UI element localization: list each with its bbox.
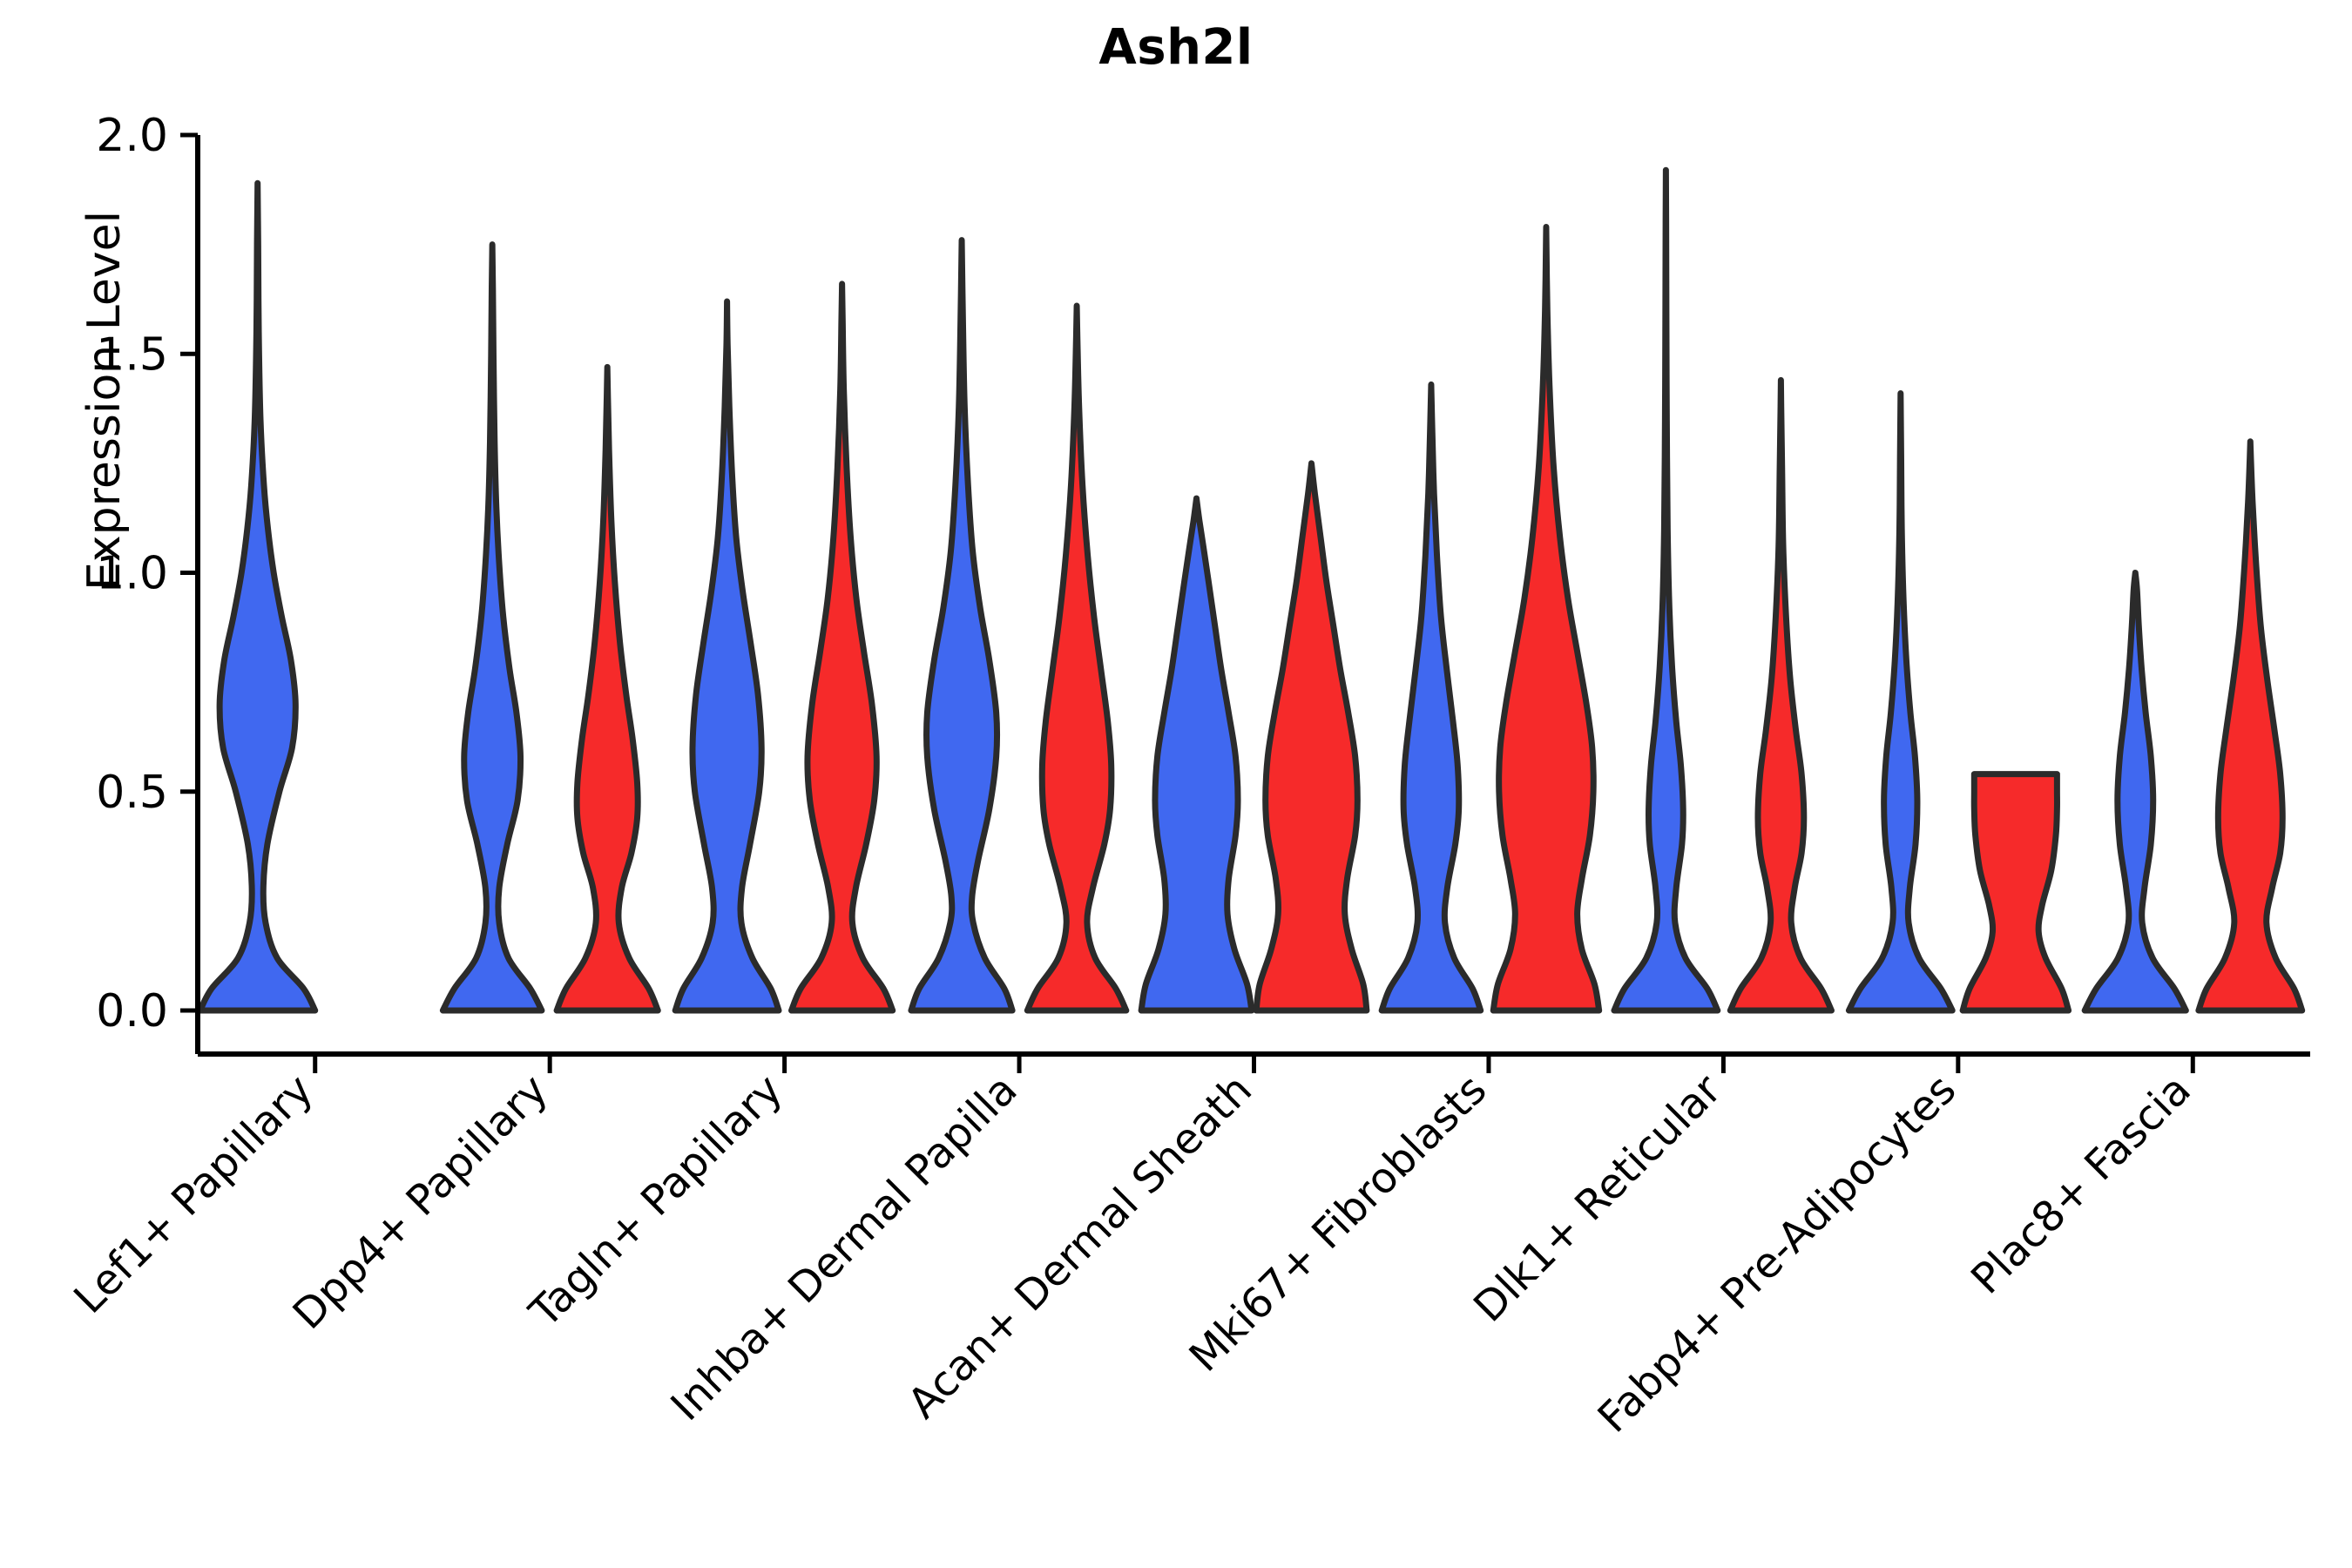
y-tick-label: 1.5 (96, 328, 168, 381)
violin-blue-2 (443, 245, 542, 1010)
violin-red-8 (1963, 774, 2068, 1010)
violin-red-3 (792, 284, 893, 1010)
violin-red-5 (1256, 463, 1367, 1010)
y-tick-label: 2.0 (96, 110, 168, 162)
violin-red-2 (557, 367, 658, 1010)
y-tick-label: 0.5 (96, 767, 168, 819)
y-tick-layer: 0.00.51.01.52.0 (96, 110, 198, 1037)
y-tick-label: 1.0 (96, 548, 168, 600)
x-tick-label-7: Dlk1+ Reticular (1464, 1065, 1731, 1332)
violin-blue-7 (1614, 170, 1718, 1010)
y-tick-label: 0.0 (96, 985, 168, 1037)
violin-blue-4 (911, 240, 1012, 1010)
x-tick-label-3: Tagln+ Papillary (520, 1065, 792, 1337)
plot-canvas: 0.00.51.01.52.0 Lef1+ PapillaryDpp4+ Pap… (0, 0, 2352, 1568)
violins-layer (200, 170, 2302, 1010)
violin-blue-3 (675, 301, 779, 1010)
violin-blue-1 (200, 183, 315, 1010)
x-tick-label-1: Lef1+ Papillary (64, 1065, 322, 1323)
violin-blue-5 (1141, 498, 1252, 1010)
violin-red-4 (1027, 306, 1126, 1010)
violin-red-9 (2199, 442, 2302, 1010)
x-tick-label-2: Dpp4+ Papillary (284, 1065, 558, 1339)
violin-red-6 (1493, 227, 1598, 1010)
violin-blue-8 (1848, 393, 1952, 1010)
violin-blue-6 (1382, 384, 1481, 1010)
x-tick-layer: Lef1+ PapillaryDpp4+ PapillaryTagln+ Pap… (64, 1054, 2200, 1443)
x-tick-label-9: Plac8+ Fascia (1962, 1065, 2200, 1304)
violin-blue-9 (2085, 573, 2186, 1011)
violin-red-7 (1730, 380, 1831, 1010)
violin-plot-figure: Ash2l Expression Level 0.00.51.01.52.0 L… (0, 0, 2352, 1568)
